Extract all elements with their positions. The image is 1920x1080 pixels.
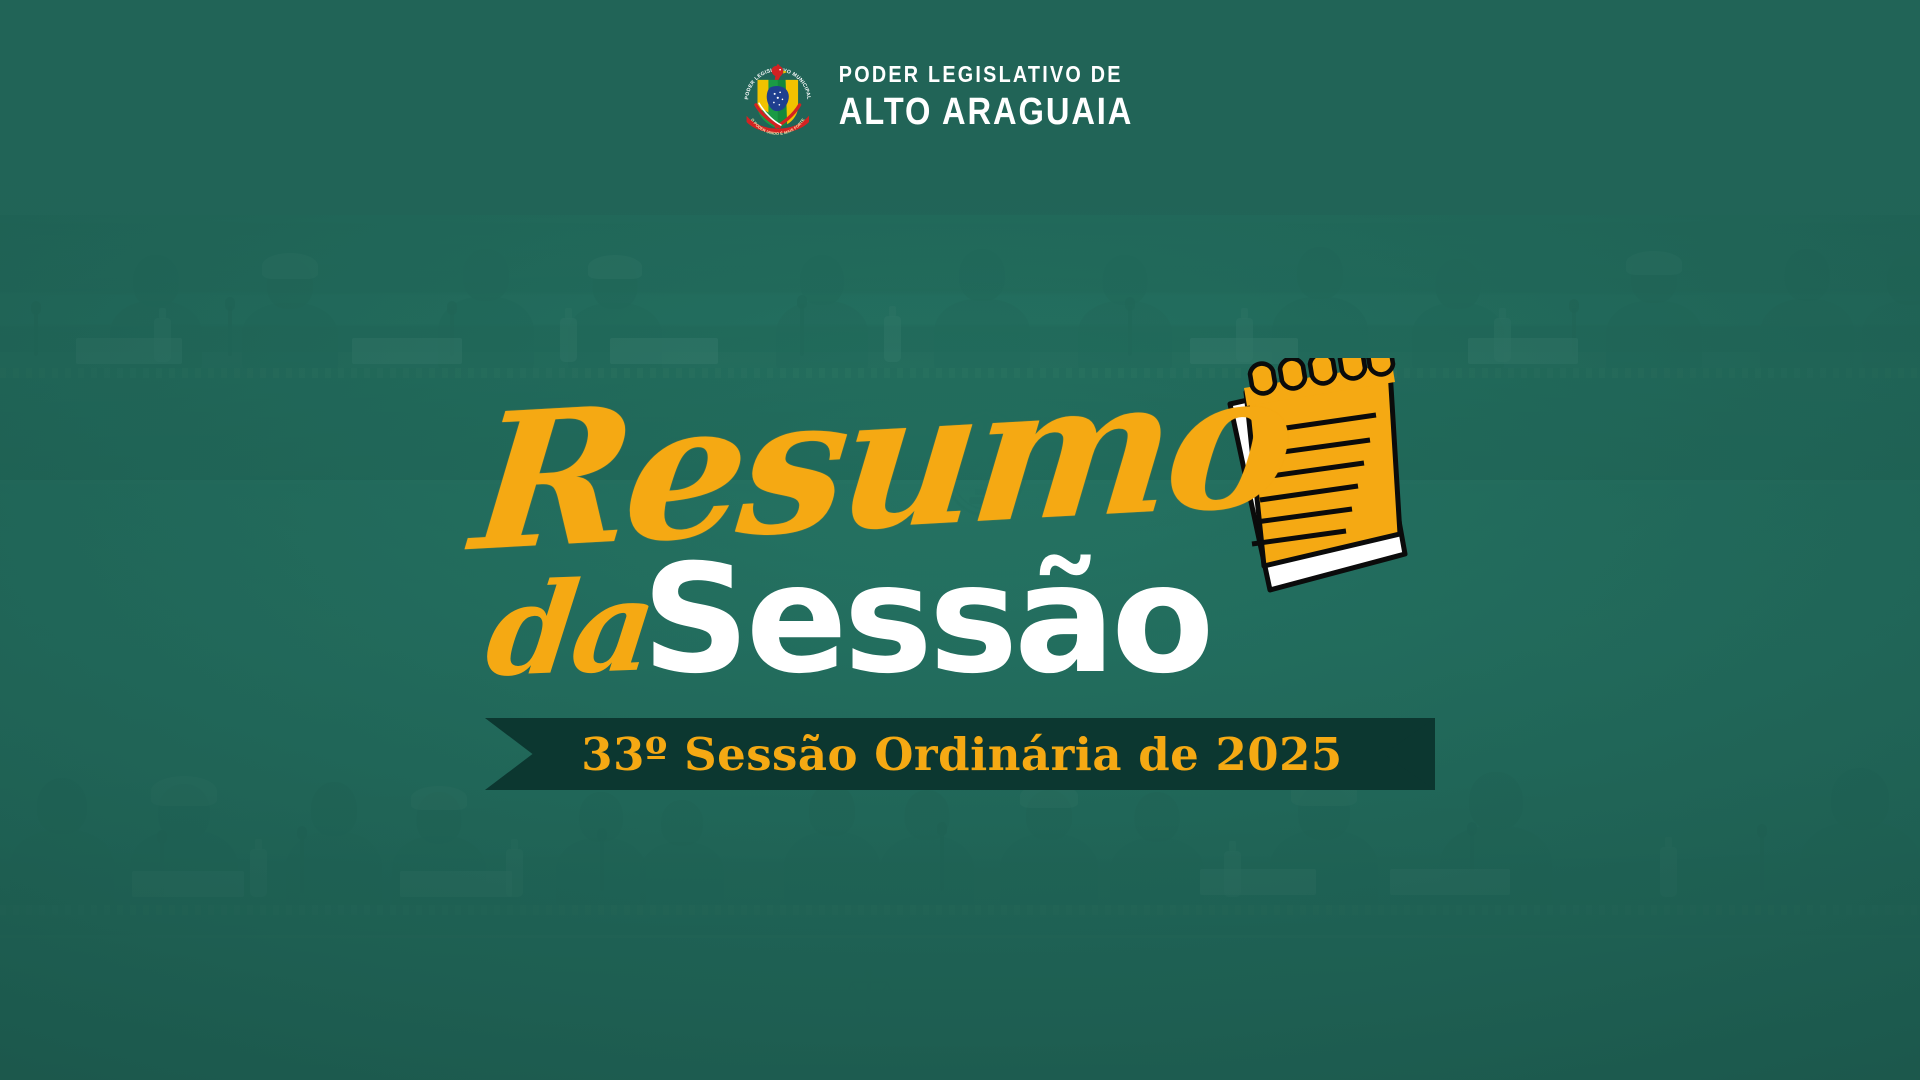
logo-line-poder-legislativo: PODER LEGISLATIVO DE (839, 63, 1133, 86)
logo-line-alto-araguaia: ALTO ARAGUAIA (839, 93, 1133, 131)
poster-canvas: PODER LEGISLATIVO MUNICIPAL (0, 0, 1920, 1080)
session-label: 33º Sessão Ordinária de 2025 (581, 728, 1342, 781)
institutional-logo-lockup: PODER LEGISLATIVO MUNICIPAL (739, 58, 1181, 136)
session-ribbon-banner: 33º Sessão Ordinária de 2025 (485, 718, 1435, 790)
background-photo (0, 0, 1920, 1080)
alto-araguaia-coat-of-arms-icon: PODER LEGISLATIVO MUNICIPAL (739, 58, 817, 136)
logo-wordmark: PODER LEGISLATIVO DE ALTO ARAGUAIA (839, 63, 1181, 131)
notepad-icon (1200, 358, 1415, 620)
